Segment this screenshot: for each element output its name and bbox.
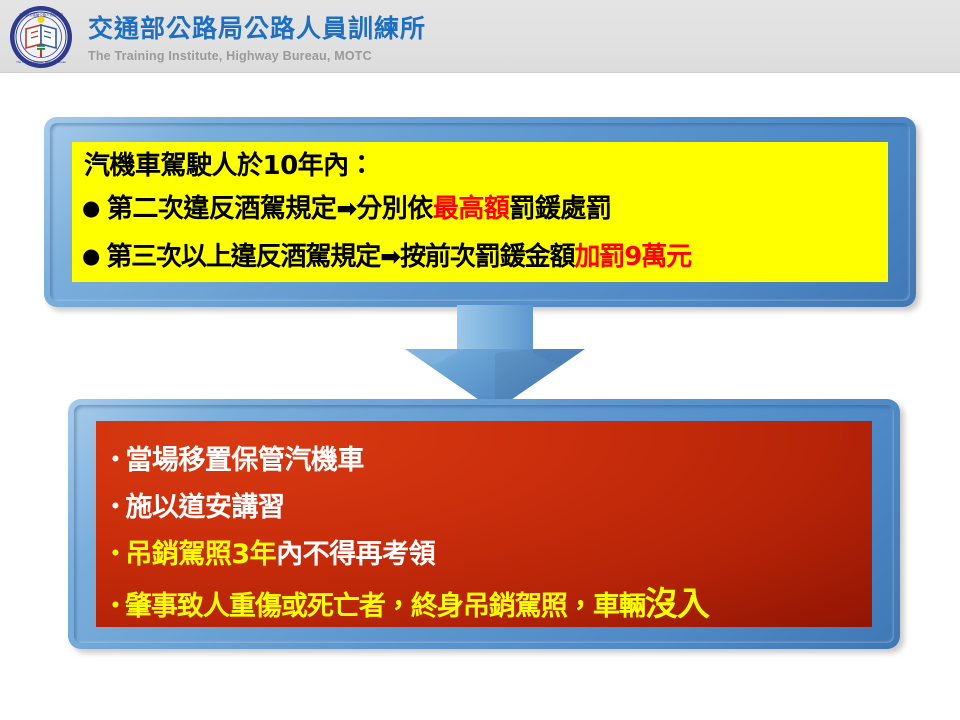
red-item-emphasis-large: 沒入 xyxy=(645,584,709,623)
right-arrow-icon: ➡ xyxy=(336,194,356,223)
red-item-text: 施以道安講習 xyxy=(125,492,284,523)
yellow-item-text-after: 罰鍰處罰 xyxy=(509,194,611,224)
down-arrow-icon xyxy=(400,305,590,412)
red-item-text: 內不得再考領 xyxy=(276,539,435,570)
yellow-content-area: 汽機車駕駛人於10年內： ●第二次違反酒駕規定➡分別依最高額罰鍰處罰 ●第三次以… xyxy=(72,142,888,282)
red-list-item: •肇事致人重傷或死亡者，終身吊銷駕照，車輛沒入 xyxy=(110,578,858,633)
svg-text:交通部公路局公路人員訓練所: 交通部公路局公路人員訓練所 xyxy=(19,12,64,17)
dot-bullet-icon: • xyxy=(110,544,125,564)
yellow-item-text-mid: 分別依 xyxy=(356,194,433,224)
page-header: 交通部公路局公路人員訓練所 The Training Institute, Hi… xyxy=(0,0,960,73)
yellow-list-item: ●第二次違反酒駕規定➡分別依最高額罰鍰處罰 xyxy=(82,185,878,233)
dot-bullet-icon: • xyxy=(110,450,125,470)
yellow-list-item: ●第三次以上違反酒駕規定➡按前次罰鍰金額加罰9萬元 xyxy=(82,233,878,281)
red-content-area: •當場移置保管汽機車 •施以道安講習 •吊銷駕照3年內不得再考領 •肇事致人重傷… xyxy=(96,421,872,627)
yellow-item-emphasis: 加罰9萬元 xyxy=(574,242,691,272)
org-title-en: The Training Institute, Highway Bureau, … xyxy=(88,47,426,65)
red-list-item: •當場移置保管汽機車 xyxy=(110,437,858,484)
dot-bullet-icon: • xyxy=(110,497,125,517)
dot-bullet-icon: • xyxy=(110,596,125,616)
yellow-item-emphasis: 最高額 xyxy=(433,194,510,224)
red-item-emphasis: 吊銷駕照3年 xyxy=(125,539,276,570)
penalty-rules-panel: 汽機車駕駛人於10年內： ●第二次違反酒駕規定➡分別依最高額罰鍰處罰 ●第三次以… xyxy=(44,117,916,307)
yellow-item-text-before: 第三次以上違反酒駕規定 xyxy=(106,242,380,272)
org-title-zh: 交通部公路局公路人員訓練所 xyxy=(88,14,426,44)
filled-circle-bullet-icon: ● xyxy=(82,196,107,220)
header-text-block: 交通部公路局公路人員訓練所 The Training Institute, Hi… xyxy=(88,14,426,65)
yellow-item-text-mid: 按前次罰鍰金額 xyxy=(400,242,574,272)
right-arrow-icon: ➡ xyxy=(380,242,400,271)
consequences-panel: •當場移置保管汽機車 •施以道安講習 •吊銷駕照3年內不得再考領 •肇事致人重傷… xyxy=(68,399,900,649)
filled-circle-bullet-icon: ● xyxy=(82,244,106,268)
training-institute-emblem-icon: 交通部公路局公路人員訓練所 The Training Institute, Hi… xyxy=(8,4,74,70)
svg-text:The Training Institute, Highwa: The Training Institute, Highway Bureau xyxy=(16,60,66,64)
red-list-item: •施以道安講習 xyxy=(110,484,858,531)
red-item-text: 當場移置保管汽機車 xyxy=(125,445,364,476)
yellow-heading: 汽機車駕駛人於10年內： xyxy=(82,147,878,185)
yellow-item-text-before: 第二次違反酒駕規定 xyxy=(107,194,337,224)
red-list-item: •吊銷駕照3年內不得再考領 xyxy=(110,531,858,578)
red-item-emphasis: 肇事致人重傷或死亡者，終身吊銷駕照，車輛 xyxy=(125,591,645,622)
